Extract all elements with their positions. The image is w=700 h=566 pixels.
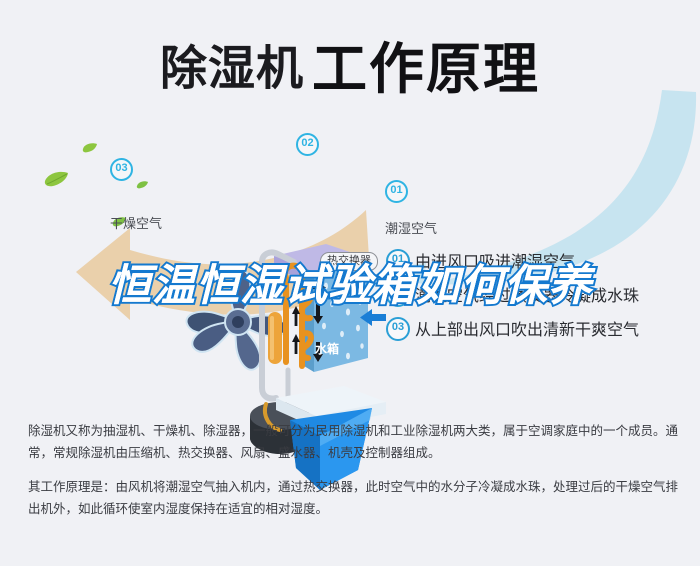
paragraph-2: 其工作原理是：由风机将潮湿空气抽入机内，通过热交换器，此时空气中的水分子冷凝成水… — [28, 476, 678, 520]
list-item: 03 从上部出风口吹出清新干爽空气 — [386, 314, 686, 348]
diagram-num-01: 01 — [385, 180, 408, 203]
body-copy: 除湿机又称为抽湿机、干燥机、除湿器，一般可分为民用除湿机和工业除湿机两大类，属于… — [28, 420, 678, 532]
watermark-text: 恒温恒湿试验箱如何保养 — [0, 262, 700, 310]
water-tank-label: 水箱 — [315, 340, 339, 357]
leaf-icon — [82, 142, 98, 154]
step-text: 从上部出风口吹出清新干爽空气 — [415, 316, 639, 340]
diagram-num-03: 03 — [110, 158, 133, 181]
paragraph-1: 除湿机又称为抽湿机、干燥机、除湿器，一般可分为民用除湿机和工业除湿机两大类，属于… — [28, 420, 678, 464]
step-number: 03 — [386, 317, 410, 341]
humid-air-label: 潮湿空气 — [385, 218, 437, 237]
title-part-1: 除湿机 — [160, 42, 304, 95]
dry-air-label: 干燥空气 — [110, 213, 162, 232]
leaf-icon — [44, 170, 70, 188]
page-root: 除湿机工作原理 — [0, 0, 700, 566]
diagram-num-02: 02 — [296, 133, 319, 156]
leaf-icon — [136, 180, 149, 190]
